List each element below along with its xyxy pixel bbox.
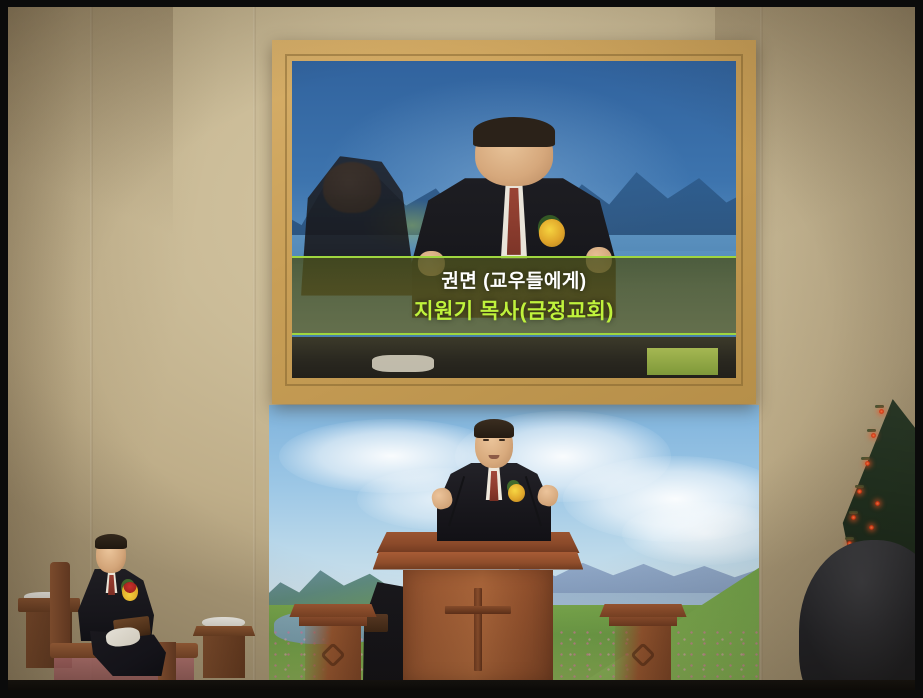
pastor-hair xyxy=(474,419,514,438)
tree-light xyxy=(857,489,862,494)
projected-subtitle-band: 권면 (교우들에게) 지원기 목사(금정교회) xyxy=(292,256,736,335)
ceiling-shadow-left xyxy=(8,7,173,337)
tree-needle xyxy=(845,537,854,540)
tree-light xyxy=(865,461,870,466)
stand-neck xyxy=(609,617,678,626)
pulpit-molding xyxy=(373,552,584,570)
stand-diamond-motif xyxy=(320,642,345,667)
projection-screen: 권면 (교우들에게) 지원기 목사(금정교회) xyxy=(292,61,736,378)
cross-icon-crossbar xyxy=(445,606,511,614)
stand-column xyxy=(615,626,671,682)
subtitle-line-2: 지원기 목사(금정교회) xyxy=(414,295,614,325)
cross-icon xyxy=(474,588,482,671)
projected-lectern-strip xyxy=(292,337,736,378)
pastor-mouth xyxy=(489,455,500,459)
photo-bottom-strip xyxy=(8,680,915,690)
tree-light xyxy=(851,515,856,520)
right-communion-stand xyxy=(604,604,682,682)
pastor-eye-right xyxy=(499,439,505,441)
tree-light xyxy=(875,501,880,506)
tree-light xyxy=(879,409,884,414)
projected-open-book xyxy=(372,355,434,372)
tree-needle xyxy=(867,429,876,432)
stand-cap xyxy=(599,604,686,617)
projected-pastor-corsage xyxy=(539,219,566,247)
subtitle-line-1: 권면 (교우들에게) xyxy=(441,266,586,293)
projection-screen-frame: 권면 (교우들에게) 지원기 목사(금정교회) xyxy=(272,40,756,404)
pastor-corsage xyxy=(508,484,525,502)
stand-diamond-motif xyxy=(630,642,655,667)
stand-neck xyxy=(299,617,368,626)
chair-back xyxy=(50,562,70,654)
stand-cap xyxy=(289,604,376,617)
sanctuary-photograph: 권면 (교우들에게) 지원기 목사(금정교회) xyxy=(8,7,915,690)
photo-black-border: 권면 (교우들에게) 지원기 목사(금정교회) xyxy=(0,0,923,698)
wall-seam xyxy=(253,7,256,690)
tree-needle xyxy=(861,457,870,460)
elder-corsage xyxy=(122,582,138,601)
projected-pastor-hair xyxy=(473,117,555,146)
communion-table-top xyxy=(193,626,256,636)
elder-hair xyxy=(95,534,127,549)
tree-needle xyxy=(849,511,858,514)
left-communion-stand xyxy=(294,604,372,682)
wooden-pulpit xyxy=(384,532,572,682)
tree-needle xyxy=(855,485,864,488)
pastor-eye-left xyxy=(483,439,489,441)
preaching-pastor xyxy=(426,422,562,540)
tree-light xyxy=(871,433,876,438)
small-communion-table xyxy=(196,626,252,678)
tree-light xyxy=(869,525,874,530)
tree-needle xyxy=(875,405,884,408)
communion-table-base xyxy=(203,636,246,678)
stand-column xyxy=(305,626,361,682)
pulpit-front-panel xyxy=(403,570,553,683)
